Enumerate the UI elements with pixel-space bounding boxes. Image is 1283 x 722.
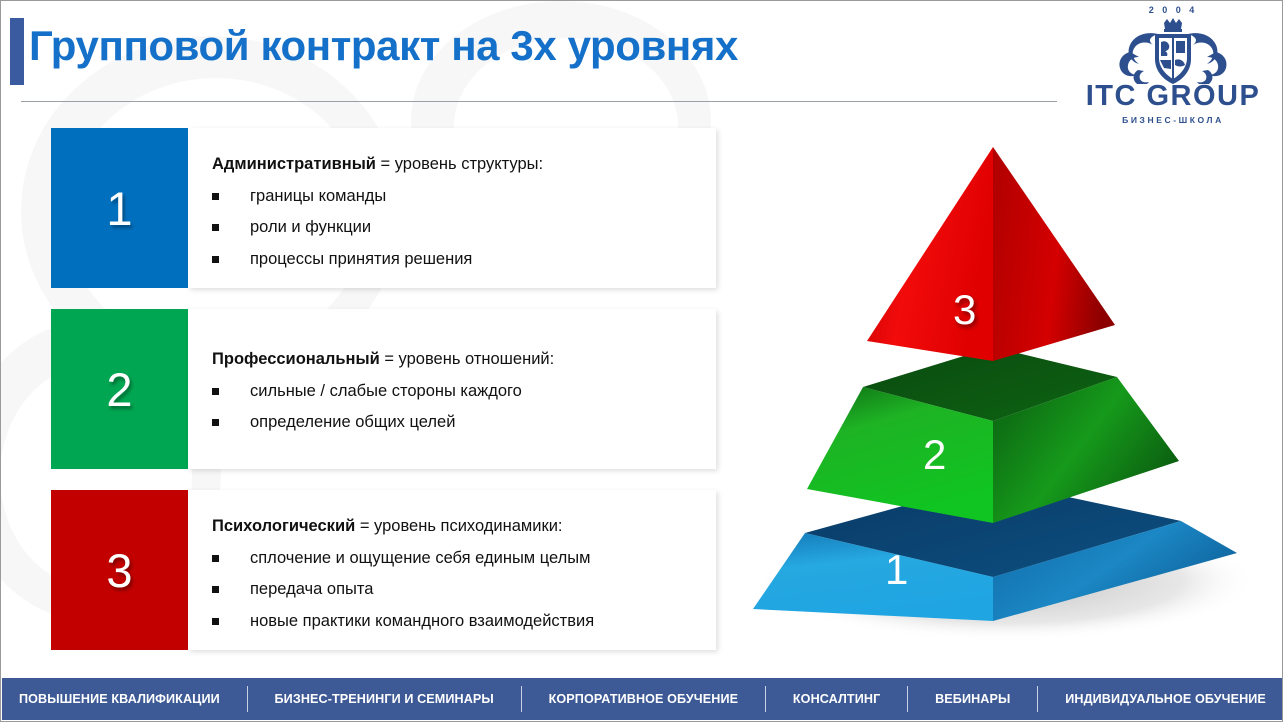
level-number-1: 1 <box>106 181 132 236</box>
footer-item-5[interactable]: ИНДИВИДУАЛЬНОЕ ОБУЧЕНИЕ <box>1056 693 1275 706</box>
bullet-square-icon <box>212 193 219 200</box>
bullet-text: сильные / слабые стороны каждого <box>250 382 522 400</box>
footer-divider <box>521 686 522 712</box>
level-bullets-1: границы команды роли и функции процессы … <box>212 186 700 270</box>
footer-item-2[interactable]: КОРПОРАТИВНОЕ ОБУЧЕНИЕ <box>540 693 747 706</box>
level-number-3: 3 <box>106 543 132 598</box>
header-divider <box>21 101 1057 102</box>
level-number-2: 2 <box>106 362 132 417</box>
list-item: процессы принятия решения <box>212 249 700 270</box>
level-heading-bold-2: Профессиональный <box>212 350 380 368</box>
pyramid-top-right-face <box>993 147 1115 361</box>
bullet-text: сплочение и ощущение себя единым целым <box>250 549 590 567</box>
bullet-square-icon <box>212 586 219 593</box>
bullet-text: роли и функции <box>250 218 371 236</box>
bullet-text: границы команды <box>250 187 386 205</box>
level-bullets-2: сильные / слабые стороны каждого определ… <box>212 381 700 434</box>
footer-divider <box>765 686 766 712</box>
footer-divider <box>247 686 248 712</box>
shield-crest-icon <box>1114 14 1232 84</box>
level-number-box-2: 2 <box>51 309 188 469</box>
logo: 2 0 0 4 <box>1069 3 1277 129</box>
level-heading-2: Профессиональный = уровень отношений: <box>212 349 700 370</box>
bullet-square-icon <box>212 618 219 625</box>
bullet-text: передача опыта <box>250 580 373 598</box>
level-heading-1: Административный = уровень структуры: <box>212 154 700 175</box>
list-item: определение общих целей <box>212 412 700 433</box>
bullet-square-icon <box>212 256 219 263</box>
footer-bar: ПОВЫШЕНИЕ КВАЛИФИКАЦИИ БИЗНЕС-ТРЕНИНГИ И… <box>2 678 1283 720</box>
level-number-box-1: 1 <box>51 128 188 288</box>
list-item: роли и функции <box>212 217 700 238</box>
list-item: сплочение и ощущение себя единым целым <box>212 548 700 569</box>
level-text-panel-3: Психологический = уровень психодинамики:… <box>188 490 716 650</box>
footer-item-1[interactable]: БИЗНЕС-ТРЕНИНГИ И СЕМИНАРЫ <box>266 693 503 706</box>
bullet-square-icon <box>212 224 219 231</box>
list-item: передача опыта <box>212 579 700 600</box>
bullet-square-icon <box>212 419 219 426</box>
level-bullets-3: сплочение и ощущение себя единым целым п… <box>212 548 700 632</box>
pyramid-label-3: 3 <box>953 286 976 333</box>
footer-item-4[interactable]: ВЕБИНАРЫ <box>926 693 1019 706</box>
level-heading-rest-3: = уровень психодинамики: <box>355 517 562 535</box>
bullet-square-icon <box>212 555 219 562</box>
bullet-text: процессы принятия решения <box>250 250 472 268</box>
level-heading-bold-1: Административный <box>212 155 376 173</box>
level-text-panel-2: Профессиональный = уровень отношений: си… <box>188 309 716 469</box>
footer-item-0[interactable]: ПОВЫШЕНИЕ КВАЛИФИКАЦИИ <box>10 693 229 706</box>
bullet-text: определение общих целей <box>250 413 455 431</box>
list-item: новые практики командного взаимодействия <box>212 611 700 632</box>
level-heading-rest-1: = уровень структуры: <box>376 155 543 173</box>
pyramid-label-1: 1 <box>885 546 908 593</box>
logo-year: 2 0 0 4 <box>1069 5 1277 15</box>
bullet-square-icon <box>212 388 219 395</box>
logo-name: ITC GROUP <box>1069 82 1277 111</box>
level-heading-rest-2: = уровень отношений: <box>380 350 554 368</box>
list-item: сильные / слабые стороны каждого <box>212 381 700 402</box>
pyramid-label-2: 2 <box>923 431 946 478</box>
bullet-text: новые практики командного взаимодействия <box>250 612 594 630</box>
level-text-panel-1: Административный = уровень структуры: гр… <box>188 128 716 288</box>
title-accent-bar <box>10 18 24 85</box>
footer-divider <box>1037 686 1038 712</box>
pyramid-diagram: 3 2 1 <box>745 129 1275 651</box>
level-heading-3: Психологический = уровень психодинамики: <box>212 516 700 537</box>
list-item: границы команды <box>212 186 700 207</box>
footer-divider <box>907 686 908 712</box>
level-number-box-3: 3 <box>51 490 188 650</box>
page-title: Групповой контракт на 3х уровнях <box>29 22 738 70</box>
level-heading-bold-3: Психологический <box>212 517 355 535</box>
footer-item-3[interactable]: КОНСАЛТИНГ <box>784 693 889 706</box>
slide-canvas: Групповой контракт на 3х уровнях 2 0 0 4 <box>0 0 1283 722</box>
logo-subtitle: БИЗНЕС-ШКОЛА <box>1069 115 1277 125</box>
